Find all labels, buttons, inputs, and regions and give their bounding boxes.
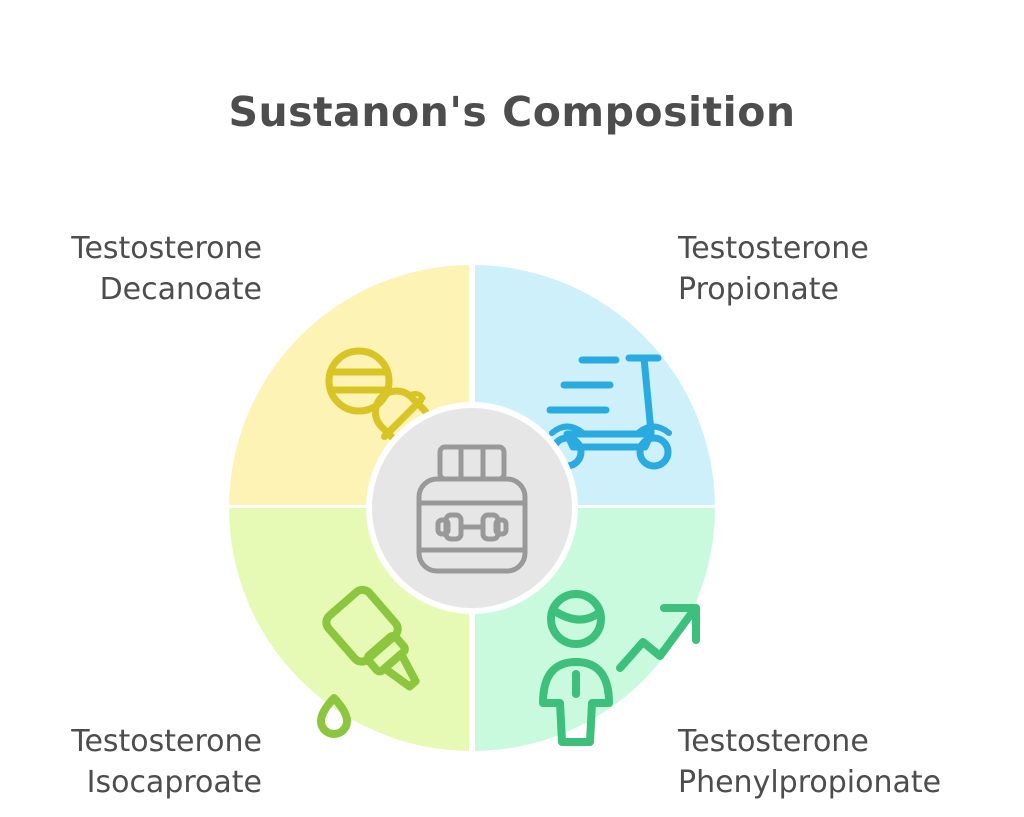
label-testosterone-decanoate: Testosterone Decanoate	[0, 228, 262, 311]
donut-chart-svg	[228, 264, 716, 752]
label-testosterone-phenylpropionate: Testosterone Phenylpropionate	[678, 721, 1018, 804]
hub-circle[interactable]	[372, 408, 572, 608]
label-testosterone-propionate: Testosterone Propionate	[678, 228, 1008, 311]
page-title: Sustanon's Composition	[0, 88, 1024, 136]
composition-donut-chart	[228, 264, 716, 752]
label-testosterone-isocaproate: Testosterone Isocaproate	[0, 721, 262, 804]
